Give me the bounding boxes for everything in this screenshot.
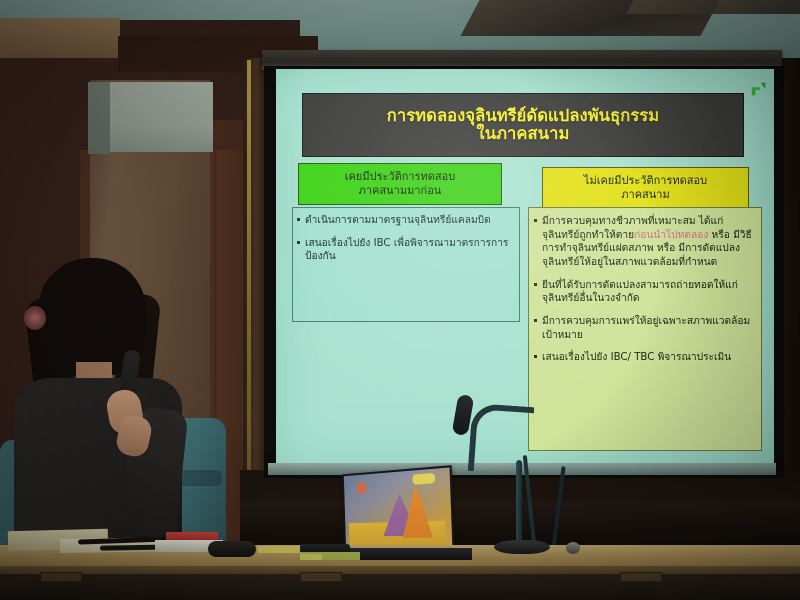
column-header-prior-field-test: เคยมีประวัติการทดสอบ ภาคสนามมาก่อน bbox=[298, 163, 502, 205]
list-item: มีการควบคุมการแพร่ให้อยู่เฉพาะสภาพแวดล้อ… bbox=[534, 315, 755, 342]
bullet-dot-icon bbox=[534, 219, 537, 222]
list-item: ดำเนินการตามมาตรฐานจุลินทรีย์แคลมบิด bbox=[297, 214, 514, 228]
bullet-dot-icon bbox=[534, 283, 537, 286]
header-line: เคยมีประวัติการทดสอบ bbox=[345, 170, 455, 184]
green-arrow-logo-icon bbox=[750, 81, 768, 99]
desk-paper-lime bbox=[300, 552, 360, 560]
desk-black-item bbox=[208, 541, 256, 557]
ceiling-vent-secondary bbox=[626, 0, 800, 14]
list-item: ยีนที่ได้รับการดัดแปลงสามารถถ่ายทอดให้แก… bbox=[534, 279, 755, 306]
bullet-text: มีการควบคุมการแพร่ให้อยู่เฉพาะสภาพแวดล้อ… bbox=[542, 315, 755, 342]
bullet-text: ดำเนินการตามมาตรฐานจุลินทรีย์แคลมบิด bbox=[305, 214, 491, 228]
slide-title-band: การทดลองจุลินทรีย์ดัดแปลงพันธุกรรม ในภาค… bbox=[302, 93, 744, 157]
bullet-text-rich: มีการควบคุมทางชีวภาพที่เหมาะสม ได้แก่ จุ… bbox=[542, 215, 755, 270]
conference-table-front bbox=[0, 574, 800, 600]
column-headers-row: เคยมีประวัติการทดสอบ ภาคสนามมาก่อน ไม่เค… bbox=[298, 163, 754, 205]
bullet-text: เสนอเรื่องไปยัง IBC เพื่อพิจารณามาตรการก… bbox=[305, 237, 514, 264]
column-header-no-prior-field-test: ไม่เคยมีประวัติการทดสอบ ภาคสนาม bbox=[542, 167, 749, 209]
bullet-dot-icon bbox=[534, 355, 537, 358]
gooseneck-microphone-stem bbox=[516, 460, 522, 546]
content-box-no-prior-field-test: มีการควบคุมทางชีวภาพที่เหมาะสม ได้แก่ จุ… bbox=[528, 207, 762, 451]
laptop-sticker-streak bbox=[412, 473, 435, 485]
header-line: ไม่เคยมีประวัติการทดสอบ bbox=[584, 174, 707, 188]
hair-flower bbox=[24, 306, 46, 330]
pillar-cap-side bbox=[88, 82, 110, 154]
list-item: เสนอเรื่องไปยัง IBC เพื่อพิจารณามาตรการก… bbox=[297, 237, 514, 264]
bullet-text-highlight: ก่อนนำไปทดลอง bbox=[634, 230, 708, 241]
gooseneck-microphone-base bbox=[494, 540, 550, 554]
header-line: ภาคสนาม bbox=[621, 188, 669, 202]
bullet-dot-icon bbox=[297, 218, 300, 221]
table-latch bbox=[300, 572, 342, 582]
slide-title-line-2: ในภาคสนาม bbox=[477, 125, 570, 143]
bullet-text: เสนอเรื่องไปยัง IBC/ TBC พิจารณาประเมิน bbox=[542, 351, 731, 365]
desk-yellow-item bbox=[258, 546, 300, 553]
laptop-sticker-dot bbox=[356, 482, 367, 494]
bullet-text: ยีนที่ได้รับการดัดแปลงสามารถถ่ายทอดให้แก… bbox=[542, 279, 755, 306]
list-item: มีการควบคุมทางชีวภาพที่เหมาะสม ได้แก่ จุ… bbox=[534, 215, 755, 270]
bullet-dot-icon bbox=[534, 319, 537, 322]
gold-trim-strip bbox=[247, 60, 251, 480]
table-latch bbox=[40, 572, 82, 582]
list-item: เสนอเรื่องไปยัง IBC/ TBC พิจารณาประเมิน bbox=[534, 351, 755, 365]
presenter bbox=[8, 258, 198, 558]
desk-knob bbox=[566, 542, 580, 554]
wall-upper-strip bbox=[0, 18, 120, 58]
bullet-dot-icon bbox=[297, 241, 300, 244]
slide-title-line-1: การทดลองจุลินทรีย์ดัดแปลงพันธุกรรม bbox=[387, 107, 659, 125]
content-box-prior-field-test: ดำเนินการตามมาตรฐานจุลินทรีย์แคลมบิด เสน… bbox=[292, 207, 520, 322]
header-line: ภาคสนามมาก่อน bbox=[359, 184, 442, 198]
photo-scene: การทดลองจุลินทรีย์ดัดแปลงพันธุกรรม ในภาค… bbox=[0, 0, 800, 600]
table-latch bbox=[620, 572, 662, 582]
